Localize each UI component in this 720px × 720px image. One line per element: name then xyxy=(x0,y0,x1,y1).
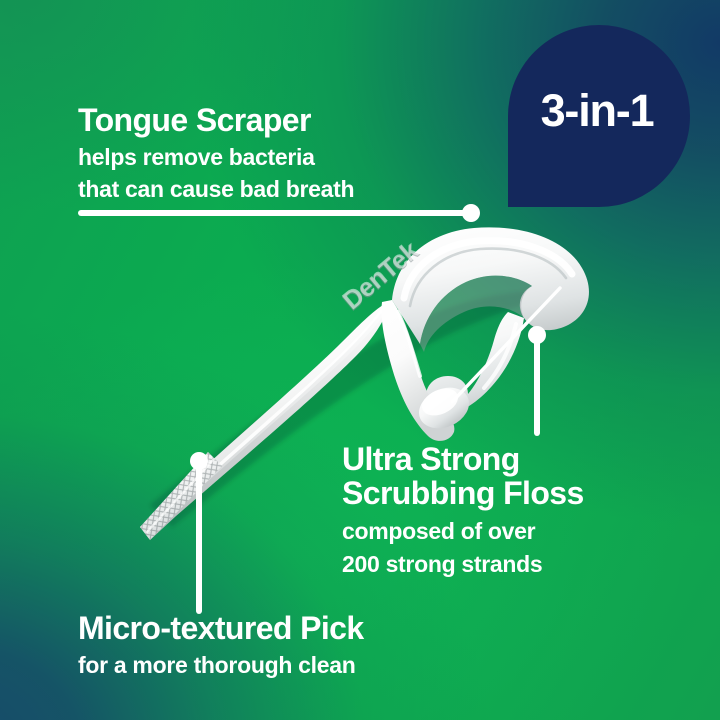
leader-dot-micro-textured-pick xyxy=(190,452,208,470)
callout-subline: composed of over xyxy=(342,518,584,544)
callout-tongue-scraper: Tongue Scraper helps remove bacteria tha… xyxy=(78,104,354,202)
badge-label: 3-in-1 xyxy=(541,88,654,133)
badge-3-in-1: 3-in-1 xyxy=(508,25,690,207)
leader-line-micro-textured-pick xyxy=(196,466,202,614)
callout-subline: helps remove bacteria xyxy=(78,144,354,170)
callout-scrubbing-floss: Ultra Strong Scrubbing Floss composed of… xyxy=(342,443,584,577)
callout-heading: Scrubbing Floss xyxy=(342,477,584,511)
leader-dot-tongue-scraper xyxy=(462,204,480,222)
callout-heading: Ultra Strong xyxy=(342,443,584,477)
callout-subline: for a more thorough clean xyxy=(78,652,364,678)
callout-heading: Tongue Scraper xyxy=(78,104,354,138)
infographic-canvas: DenTek DenTek 3-in-1 Tongue Scraper help… xyxy=(0,0,720,720)
callout-heading: Micro-textured Pick xyxy=(78,612,364,646)
leader-line-scrubbing-floss xyxy=(534,340,540,436)
callout-subline: 200 strong strands xyxy=(342,551,584,577)
leader-line-tongue-scraper xyxy=(78,210,470,216)
leader-dot-scrubbing-floss xyxy=(528,326,546,344)
callout-subline: that can cause bad breath xyxy=(78,176,354,202)
callout-micro-textured-pick: Micro-textured Pick for a more thorough … xyxy=(78,612,364,678)
